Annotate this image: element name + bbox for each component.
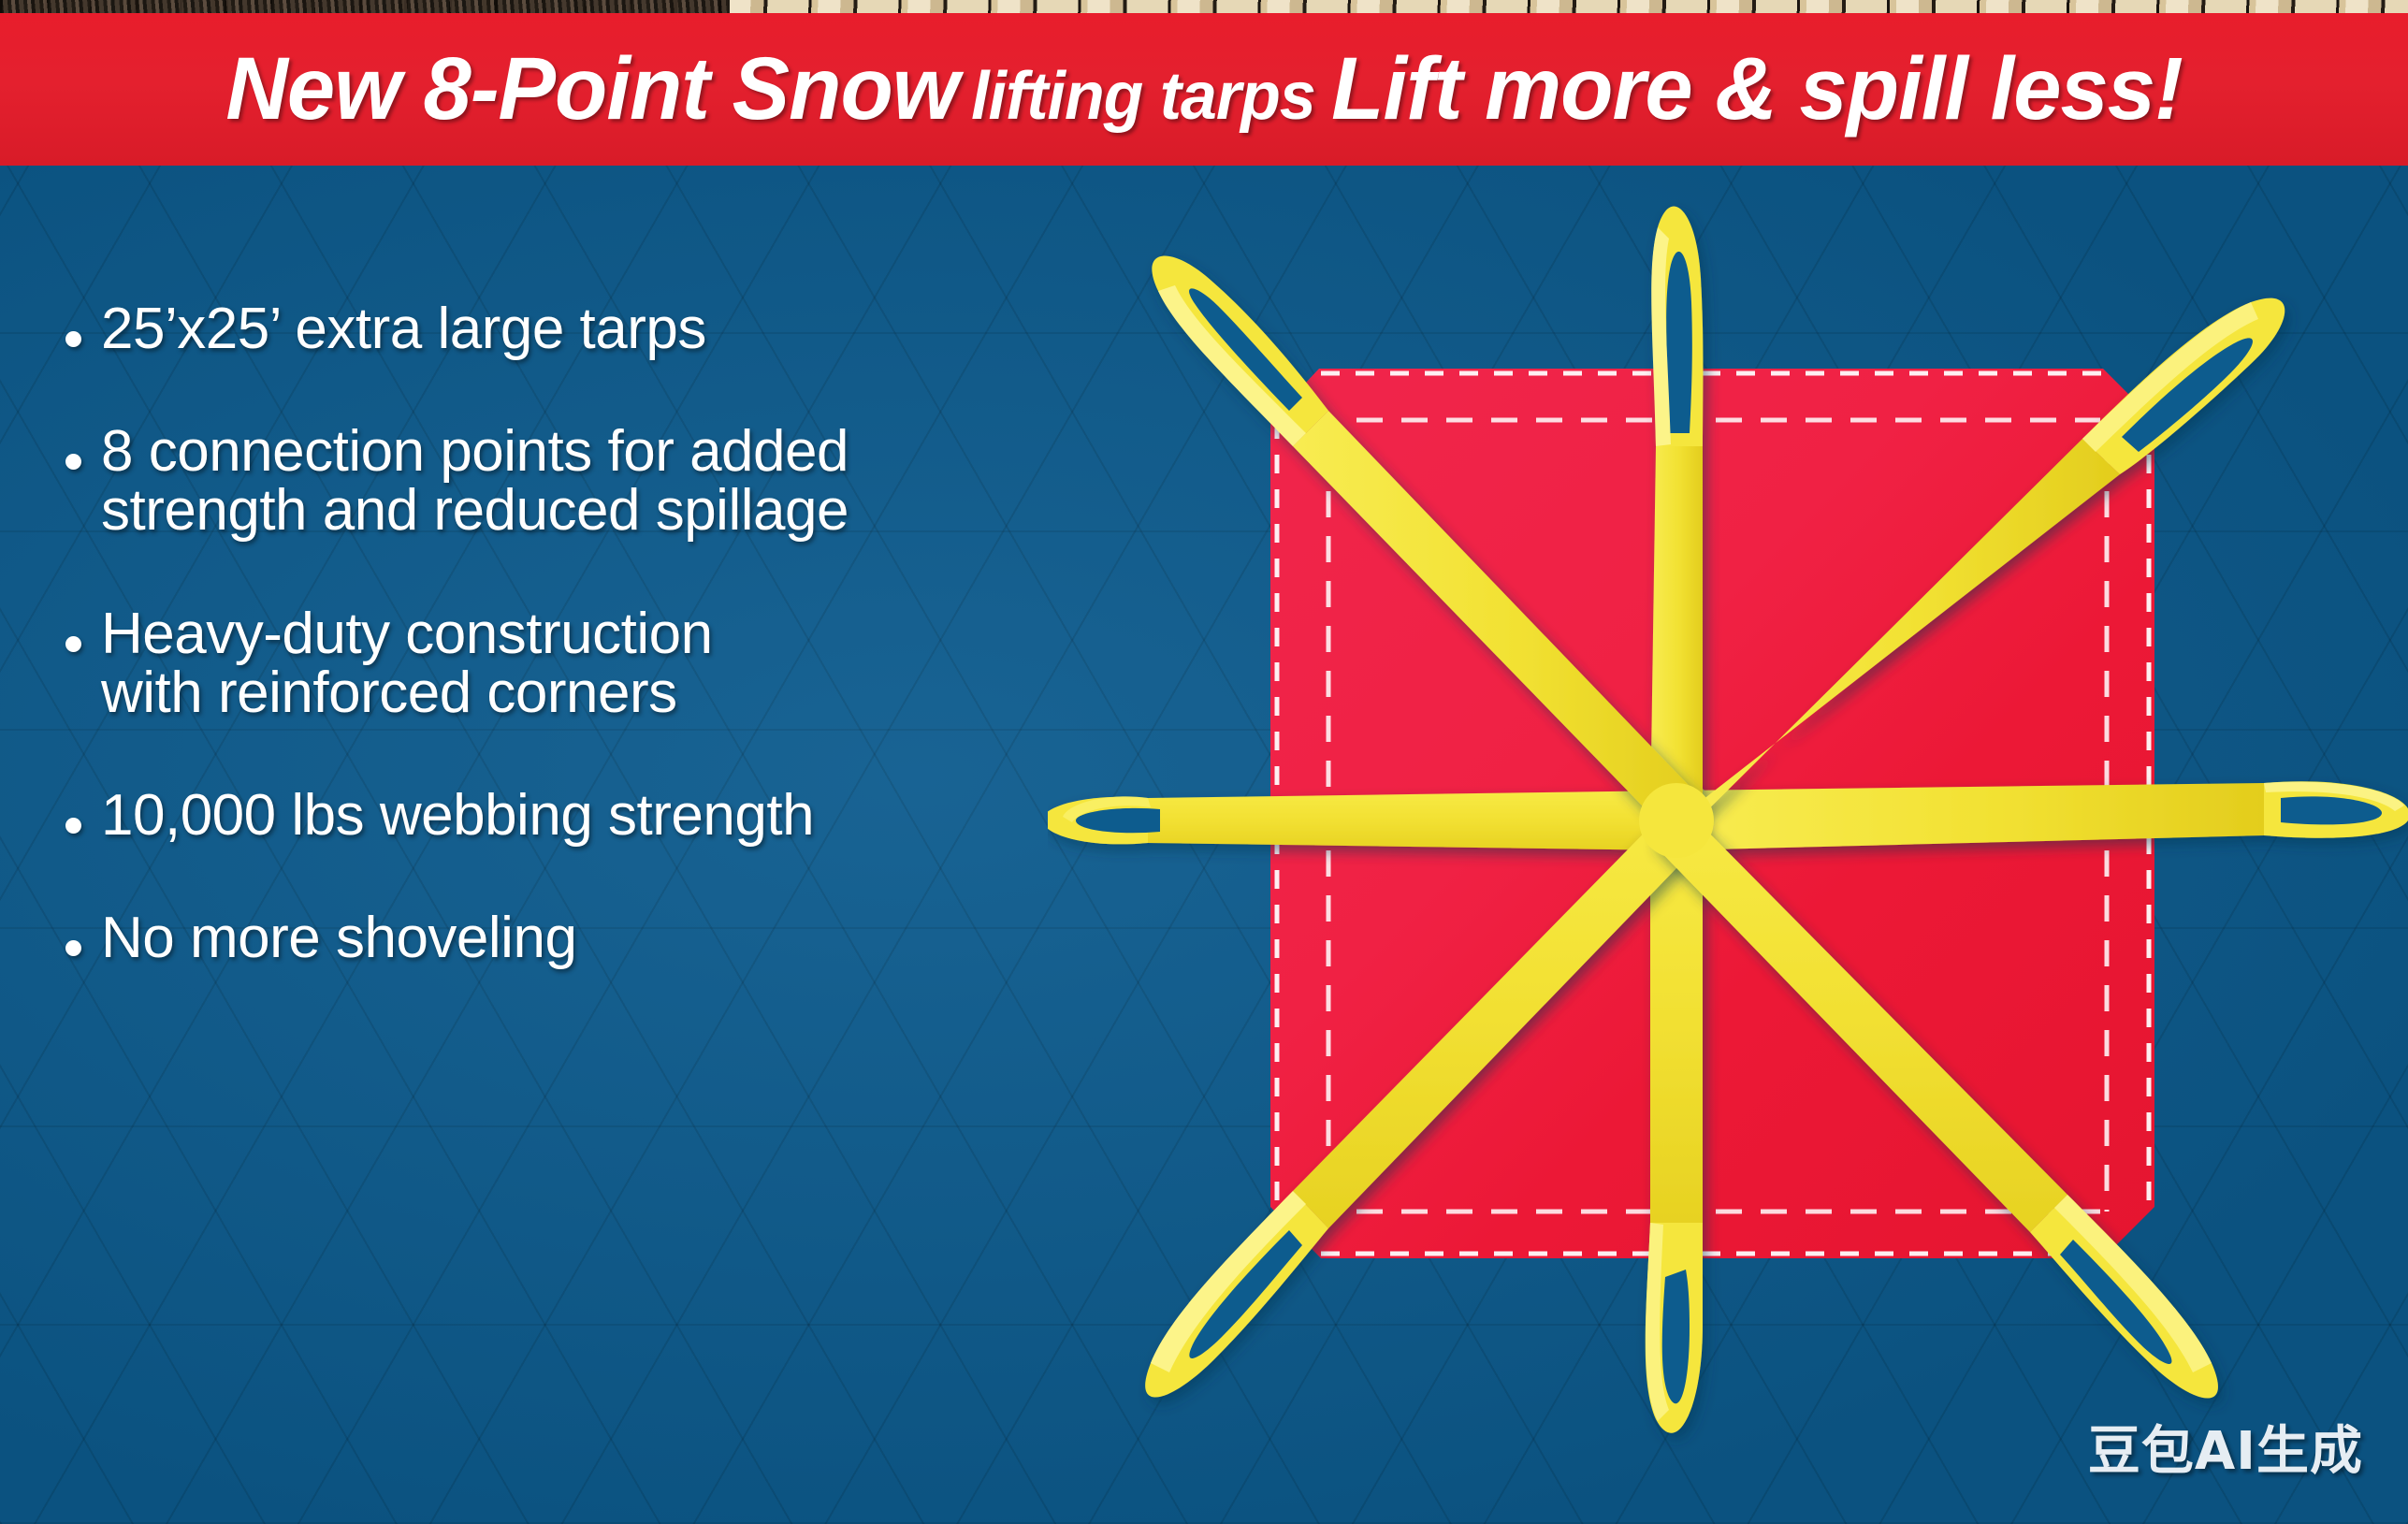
ai-watermark: 豆包AI生成 xyxy=(2088,1409,2363,1485)
headline-banner: New 8-Point Snowlifting tarpsLift more &… xyxy=(0,13,2408,166)
headline-tail: Lift more & spill less! xyxy=(1331,39,2183,138)
tarp-diagram xyxy=(1048,166,2408,1524)
bullet-text: 25’x25’ extra large tarps xyxy=(101,299,706,358)
list-item: 8 connection points for added strength a… xyxy=(65,422,1169,540)
promo-slide: New 8-Point Snowlifting tarpsLift more &… xyxy=(0,0,2408,1524)
headline-middle: lifting tarps xyxy=(971,59,1315,134)
list-item: Heavy-duty construction with reinforced … xyxy=(65,604,1169,722)
list-item: 25’x25’ extra large tarps xyxy=(65,299,1169,358)
list-item: No more shoveling xyxy=(65,908,1169,967)
bullet-text: No more shoveling xyxy=(101,908,576,967)
headline-lead: New 8-Point Snow xyxy=(225,39,958,138)
headline-text: New 8-Point Snowlifting tarpsLift more &… xyxy=(225,45,2182,134)
list-item: 10,000 lbs webbing strength xyxy=(65,786,1169,845)
bullet-text: 8 connection points for added strength a… xyxy=(101,422,849,540)
bullet-dot-icon xyxy=(65,636,81,652)
bullet-dot-icon xyxy=(65,818,81,834)
strap-bottom-center xyxy=(1646,820,1703,1433)
strap-center-overlap xyxy=(1639,783,1714,858)
tarp-illustration xyxy=(1048,166,2408,1524)
bullet-dot-icon xyxy=(65,454,81,470)
strap-top-center xyxy=(1650,207,1704,820)
bullet-dot-icon xyxy=(65,331,81,347)
strap-left xyxy=(1048,791,1676,850)
bullet-text: 10,000 lbs webbing strength xyxy=(101,786,814,845)
top-photo-strip xyxy=(0,0,2408,13)
strap-right xyxy=(1676,781,2408,850)
bullet-dot-icon xyxy=(65,940,81,956)
feature-bullet-list: 25’x25’ extra large tarps 8 connection p… xyxy=(65,299,1169,1032)
bullet-text: Heavy-duty construction with reinforced … xyxy=(101,604,713,722)
